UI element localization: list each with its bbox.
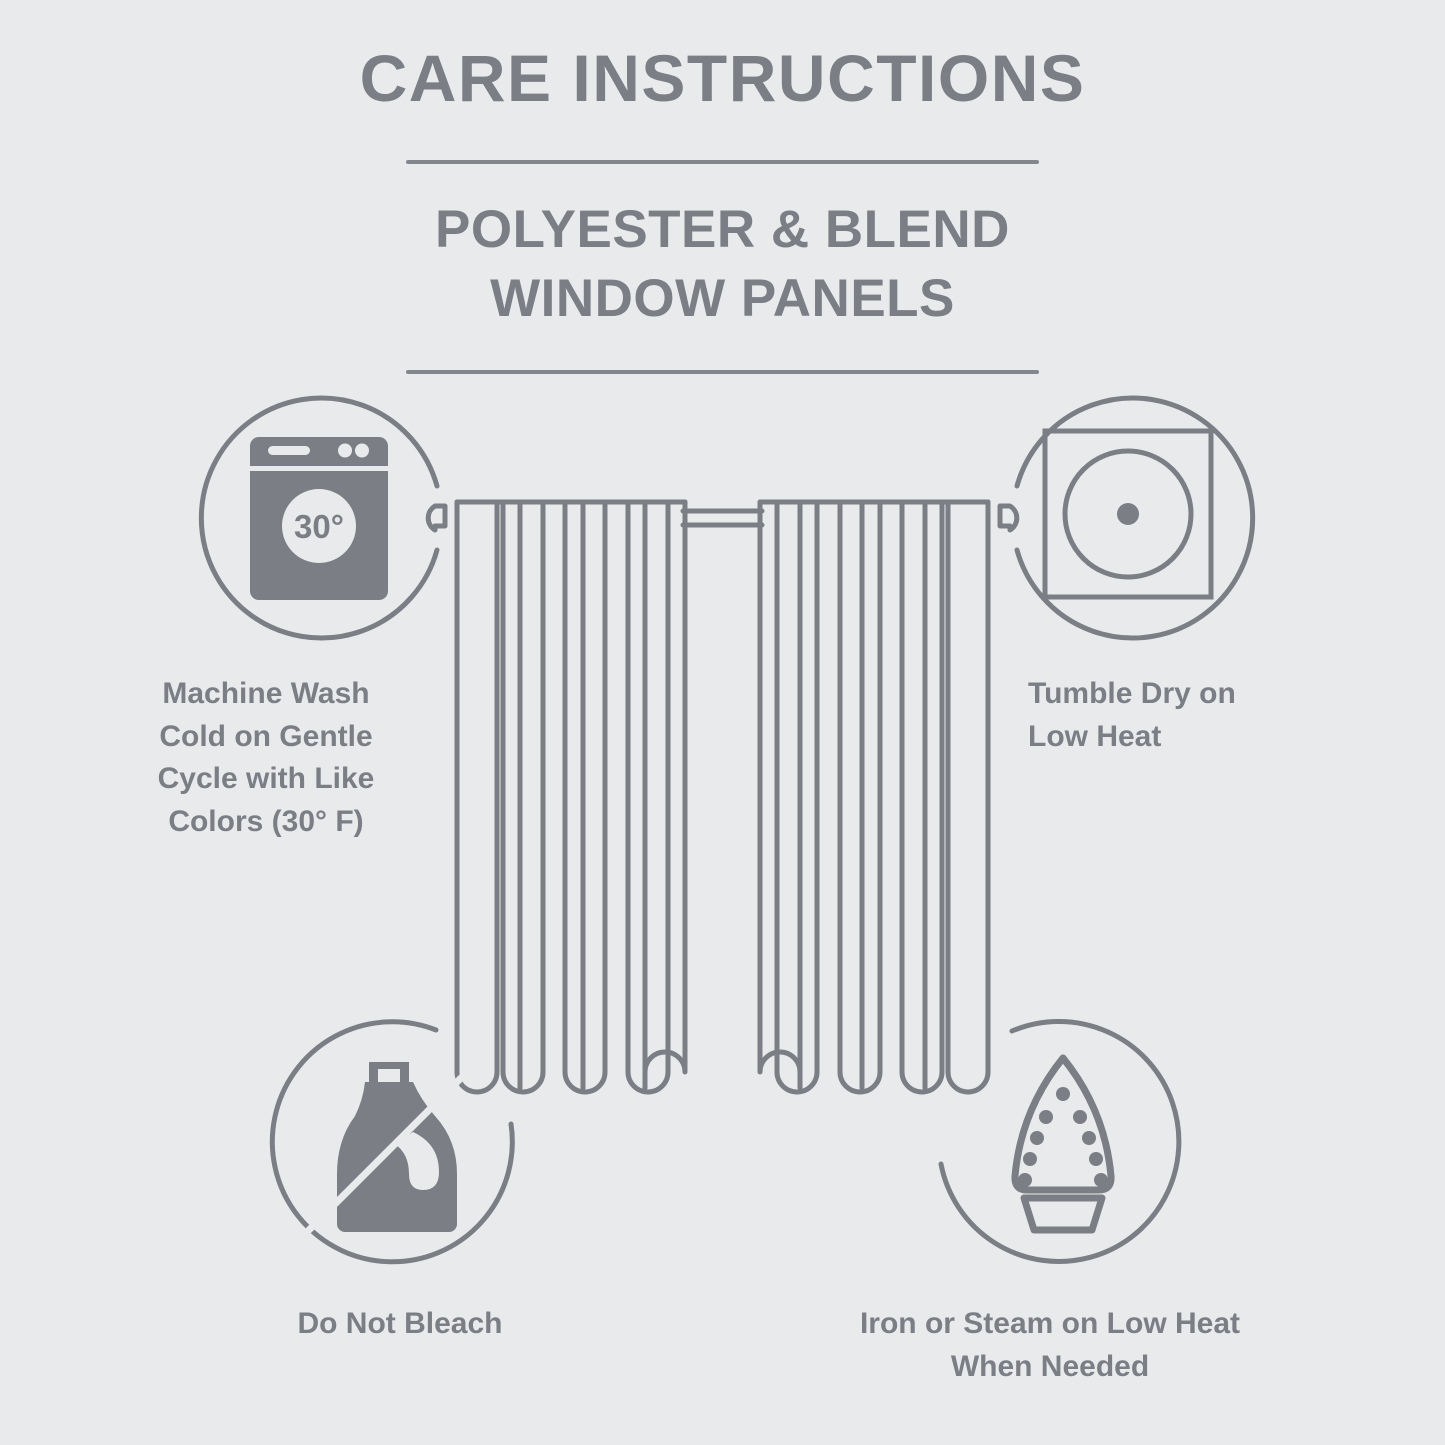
- divider-top: [406, 160, 1039, 164]
- subtitle-line-2: WINDOW PANELS: [0, 265, 1445, 334]
- tumble-dry-low-icon: [1045, 431, 1211, 597]
- bleach-bottle-icon: [337, 1062, 457, 1232]
- right-panel: [760, 502, 988, 1092]
- curtain-rod: [683, 511, 762, 525]
- left-panel: [457, 502, 685, 1092]
- iron-icon: [1015, 1058, 1111, 1230]
- care-instructions-infographic: CARE INSTRUCTIONS POLYESTER & BLEND WIND…: [0, 0, 1445, 1445]
- page-subtitle: POLYESTER & BLEND WINDOW PANELS: [0, 196, 1445, 334]
- do-not-bleach-caption: Do Not Bleach: [205, 1303, 595, 1346]
- subtitle-line-1: POLYESTER & BLEND: [0, 196, 1445, 265]
- do-not-bleach-icon-badge: [265, 1012, 529, 1276]
- machine-wash-caption: Machine Wash Cold on Gentle Cycle with L…: [110, 673, 422, 843]
- tumble-dry-icon-badge: [1000, 386, 1264, 650]
- tumble-dry-caption: Tumble Dry on Low Heat: [1028, 673, 1348, 758]
- page-title: CARE INSTRUCTIONS: [0, 44, 1445, 113]
- iron-icon-badge: [932, 1012, 1196, 1276]
- iron-caption: Iron or Steam on Low Heat When Needed: [790, 1303, 1310, 1388]
- machine-wash-icon-badge: 30°: [190, 386, 454, 650]
- wash-temperature-label: 30°: [294, 508, 344, 545]
- divider-bottom: [406, 370, 1039, 374]
